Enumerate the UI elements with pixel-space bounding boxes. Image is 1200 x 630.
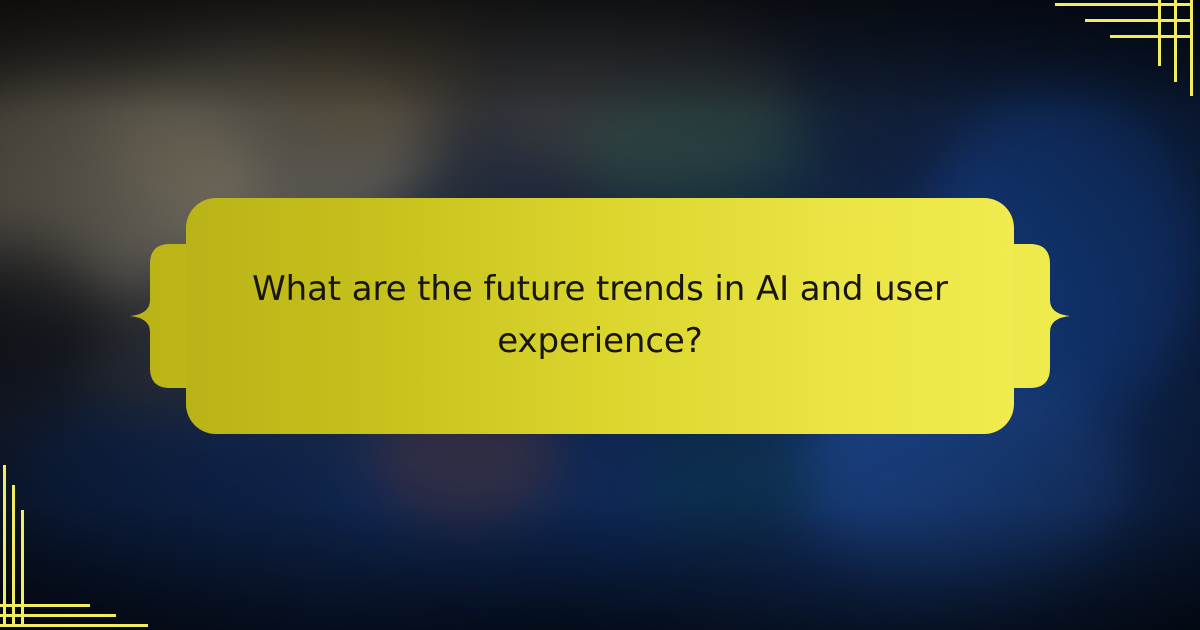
question-card-canvas: What are the future trends in AI and use… xyxy=(0,0,1200,630)
deco-horizontal-line xyxy=(0,614,116,617)
deco-vertical-line xyxy=(1158,0,1161,66)
deco-vertical-line xyxy=(21,510,24,627)
deco-horizontal-line xyxy=(1110,35,1193,38)
deco-vertical-line xyxy=(3,465,6,627)
deco-horizontal-line xyxy=(0,604,90,607)
deco-vertical-line xyxy=(1190,0,1193,96)
deco-horizontal-line xyxy=(0,624,148,627)
question-badge: What are the future trends in AI and use… xyxy=(108,196,1092,436)
question-text: What are the future trends in AI and use… xyxy=(218,196,982,436)
deco-horizontal-line xyxy=(1055,3,1193,6)
deco-vertical-line xyxy=(1174,0,1177,82)
